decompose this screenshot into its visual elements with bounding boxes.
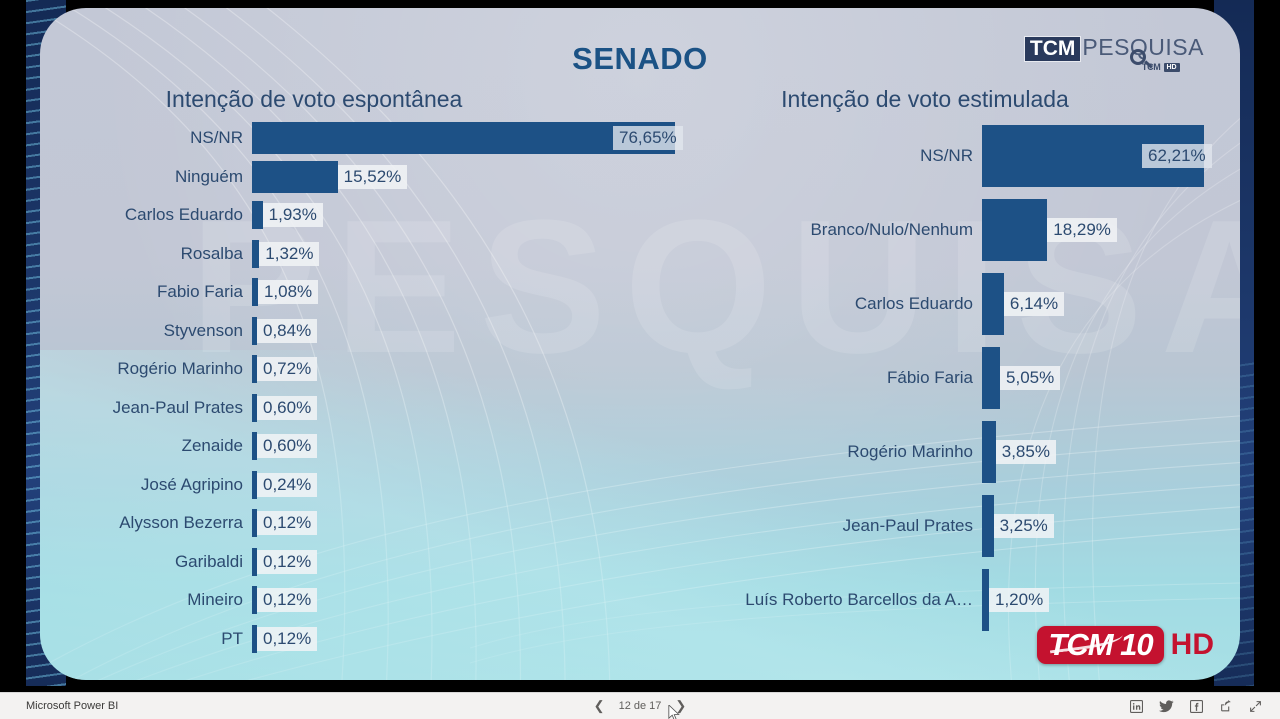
slide-panel: PESQUISA SENADO TCM PESQUISA TCM HD Inte… [40,8,1240,680]
bar-track: 1,93% [252,201,704,229]
bar-category-label: Rogério Marinho [700,442,982,462]
bar-category-label: Zenaide [64,436,252,456]
bar-track: 0,84% [252,317,704,345]
chart-title: Intenção de voto estimulada [700,86,1230,113]
bar-value-label: 15,52% [338,165,408,189]
tv-bug-channel-box: TCM 10 [1037,626,1163,664]
bar-value-label: 5,05% [1000,366,1060,390]
bar[interactable] [252,201,263,229]
bar-category-label: PT [64,629,252,649]
bar-row[interactable]: Styvenson0,84% [64,312,704,351]
chevron-left-icon[interactable]: ❮ [594,698,605,714]
bar-row[interactable]: Jean-Paul Prates0,60% [64,389,704,428]
bar-category-label: Ninguém [64,167,252,187]
bar-row[interactable]: Fábio Faria5,05% [700,341,1230,415]
page-indicator: 12 de 17 [619,700,662,712]
bar-category-label: Rosalba [64,244,252,264]
bar[interactable] [252,240,259,268]
bar-track: 1,32% [252,240,704,268]
bar-category-label: Fábio Faria [700,368,982,388]
bar-track: 0,12% [252,509,704,537]
chart-rows: NS/NR62,21%Branco/Nulo/Nenhum18,29%Carlo… [700,119,1230,637]
bar-value-label: 0,60% [257,434,317,458]
bar-track: 1,20% [982,569,1230,631]
bar-track: 3,85% [982,421,1230,483]
bar-value-label: 1,93% [263,203,323,227]
bar[interactable] [982,495,994,557]
bar-track: 0,60% [252,432,704,460]
bar-row[interactable]: Fabio Faria1,08% [64,273,704,312]
bar-category-label: Mineiro [64,590,252,610]
bar-value-label: 1,08% [258,280,318,304]
chart-rows: NS/NR76,65%Ninguém15,52%Carlos Eduardo1,… [64,119,704,658]
bar-row[interactable]: Carlos Eduardo6,14% [700,267,1230,341]
bar-track: 0,60% [252,394,704,422]
bar-row[interactable]: Rogério Marinho3,85% [700,415,1230,489]
bar-category-label: Jean-Paul Prates [700,516,982,536]
bar-row[interactable]: José Agripino0,24% [64,466,704,505]
bar[interactable] [982,569,989,631]
bar-category-label: Rogério Marinho [64,359,252,379]
bar-category-label: Branco/Nulo/Nenhum [700,220,982,240]
brand-logo: TCM PESQUISA TCM HD [1024,36,1204,62]
bar-category-label: Alysson Bezerra [64,513,252,533]
bar-track: 1,08% [252,278,704,306]
powerbi-status-bar: Microsoft Power BI ❮ 12 de 17 ❯ [0,692,1280,719]
logo-sub-badge: HD [1164,63,1180,72]
bar-value-label: 0,12% [257,511,317,535]
bar-category-label: Styvenson [64,321,252,341]
bar-value-label: 0,12% [257,550,317,574]
bar[interactable] [982,199,1047,261]
bar-row[interactable]: Mineiro0,12% [64,581,704,620]
twitter-icon[interactable] [1159,700,1174,713]
bar-category-label: Garibaldi [64,552,252,572]
bar-track: 0,12% [252,548,704,576]
bar-row[interactable]: Ninguém15,52% [64,158,704,197]
tv-bug-quality: HD [1171,630,1214,660]
tv-bug-channel: TCM 10 [1048,627,1152,662]
bar-value-label: 76,65% [613,126,683,150]
bar-value-label: 0,84% [257,319,317,343]
bar[interactable] [252,161,338,193]
logo-mark: TCM [1024,36,1082,62]
bar-row[interactable]: Zenaide0,60% [64,427,704,466]
bar-track: 5,05% [982,347,1230,409]
bar-value-label: 0,12% [257,588,317,612]
bar-value-label: 62,21% [1142,144,1212,168]
bar-row[interactable]: Carlos Eduardo1,93% [64,196,704,235]
share-icon[interactable] [1219,700,1233,713]
tv-channel-bug: TCM 10 HD [1037,626,1214,664]
bar-value-label: 3,85% [996,440,1056,464]
bar-category-label: Jean-Paul Prates [64,398,252,418]
bar-track: 0,72% [252,355,704,383]
bar-row[interactable]: Rogério Marinho0,72% [64,350,704,389]
bar[interactable] [252,122,675,154]
bar-track: 62,21% [982,125,1230,187]
bar-category-label: José Agripino [64,475,252,495]
bar-category-label: Carlos Eduardo [700,294,982,314]
bar-row[interactable]: Garibaldi0,12% [64,543,704,582]
chart-title: Intenção de voto espontânea [64,86,704,113]
bar-track: 18,29% [982,199,1230,261]
bar-value-label: 0,12% [257,627,317,651]
chart-intencao-espontanea: Intenção de voto espontânea NS/NR76,65%N… [64,86,704,658]
bar-track: 76,65% [252,122,704,154]
bar-track: 0,12% [252,586,704,614]
bar-value-label: 0,60% [257,396,317,420]
bar-value-label: 3,25% [994,514,1054,538]
bar-row[interactable]: Rosalba1,32% [64,235,704,274]
bar-value-label: 18,29% [1047,218,1117,242]
bar-track: 15,52% [252,161,704,193]
statusbar-actions [1130,700,1262,713]
bar-row[interactable]: Alysson Bezerra0,12% [64,504,704,543]
bar[interactable] [982,273,1004,335]
bar-track: 6,14% [982,273,1230,335]
bar-value-label: 0,24% [257,473,317,497]
bar-category-label: Luís Roberto Barcellos da A… [700,590,982,610]
linkedin-icon[interactable] [1130,700,1143,713]
mouse-cursor [668,705,681,719]
bar-category-label: NS/NR [700,146,982,166]
bar-value-label: 1,20% [989,588,1049,612]
bar-row[interactable]: NS/NR62,21% [700,119,1230,193]
bar[interactable] [982,347,1000,409]
bar-row[interactable]: Jean-Paul Prates3,25% [700,489,1230,563]
chart-intencao-estimulada: Intenção de voto estimulada NS/NR62,21%B… [700,86,1230,637]
bar-row[interactable]: NS/NR76,65% [64,119,704,158]
bar-track: 0,24% [252,471,704,499]
bar-track: 0,12% [252,625,704,653]
bar-category-label: Fabio Faria [64,282,252,302]
bar-value-label: 0,72% [257,357,317,381]
bar-row[interactable]: PT0,12% [64,620,704,659]
bar-row[interactable]: Branco/Nulo/Nenhum18,29% [700,193,1230,267]
facebook-icon[interactable] [1190,700,1203,713]
fullscreen-icon[interactable] [1249,700,1262,713]
video-stage: PESQUISA SENADO TCM PESQUISA TCM HD Inte… [0,0,1280,719]
bar-category-label: NS/NR [64,128,252,148]
bar[interactable] [982,421,996,483]
bar-category-label: Carlos Eduardo [64,205,252,225]
bar-value-label: 1,32% [259,242,319,266]
bar-value-label: 6,14% [1004,292,1064,316]
powerbi-brand: Microsoft Power BI [26,700,118,712]
logo-sub-mark: TCM [1142,62,1161,72]
logo-sub: TCM HD [1142,62,1180,72]
bar-track: 3,25% [982,495,1230,557]
